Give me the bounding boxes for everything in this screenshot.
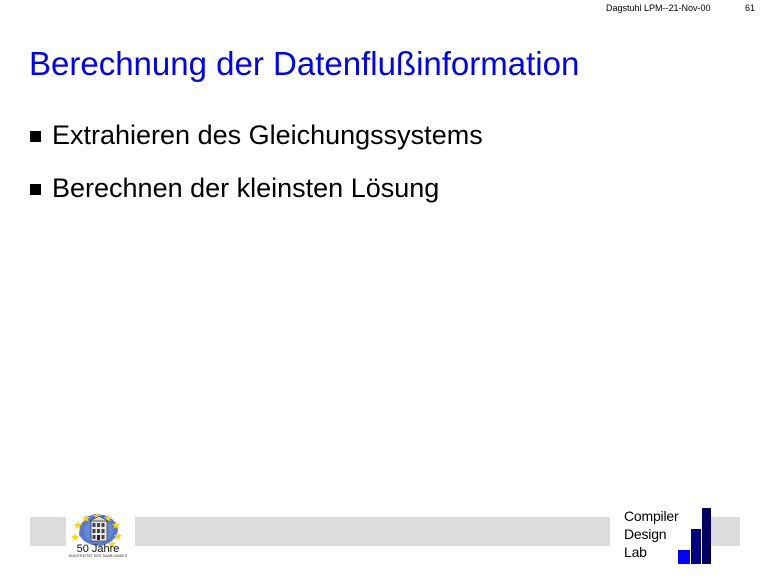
square-bullet-icon (30, 131, 41, 142)
footer-strip-right (709, 517, 740, 546)
cdl-line-lab: Lab (624, 543, 678, 561)
cdl-bar-medium (691, 529, 701, 564)
compiler-design-lab-logo: Compiler Design Lab (624, 507, 706, 565)
cdl-bar-large (702, 508, 711, 564)
header-page-number: 61 (745, 3, 755, 13)
page-title: Berechnung der Datenflußinformation (29, 44, 739, 84)
cdl-bars-icon (678, 507, 706, 564)
cdl-line-compiler: Compiler (624, 507, 678, 525)
cdl-line-design: Design (624, 525, 678, 543)
slide-canvas: Dagstuhl LPM--21-Nov-00 61 Berechnung de… (0, 0, 768, 576)
bullet-list: Extrahieren des Gleichungssystems Berech… (30, 118, 730, 224)
cdl-wordmark: Compiler Design Lab (624, 507, 678, 561)
list-item: Extrahieren des Gleichungssystems (30, 118, 730, 152)
list-item-label: Berechnen der kleinsten Lösung (52, 171, 439, 205)
slide-header: Dagstuhl LPM--21-Nov-00 61 (0, 3, 768, 17)
list-item-label: Extrahieren des Gleichungssystems (52, 118, 483, 152)
header-date-label: Dagstuhl LPM--21-Nov-00 (606, 3, 711, 13)
square-bullet-icon (30, 184, 41, 195)
footer-strip-center (135, 517, 610, 546)
footer-strip-left (30, 517, 66, 546)
cdl-bar-small (678, 550, 690, 564)
saarland-university-seal-icon: 50 Jahre UNIVERSITAT DES SAARLANDES (66, 510, 130, 562)
list-item: Berechnen der kleinsten Lösung (30, 171, 730, 205)
university-subtitle-label: UNIVERSITAT DES SAARLANDES (66, 554, 130, 559)
